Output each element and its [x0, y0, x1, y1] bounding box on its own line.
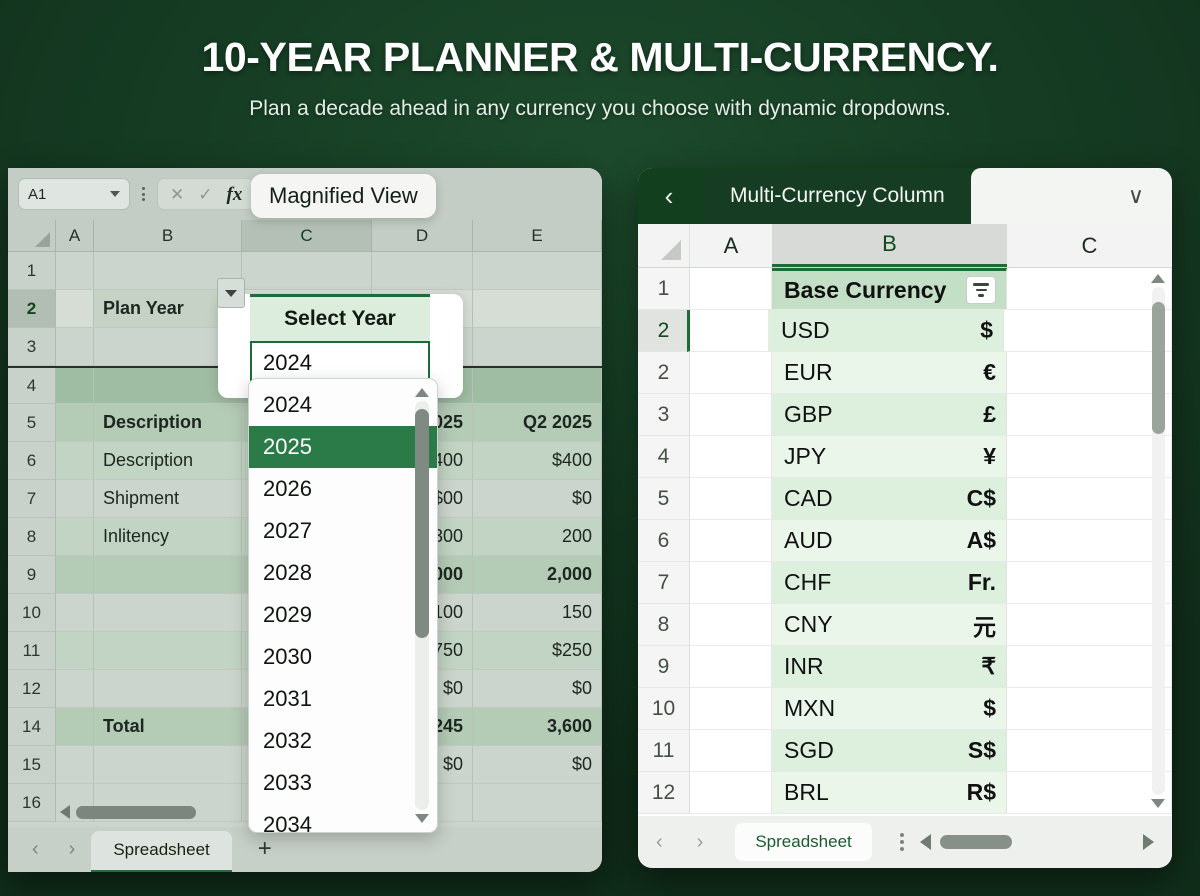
row-header[interactable]: 4	[8, 368, 56, 404]
dropdown-header-cell: Select Year	[250, 294, 430, 341]
dropdown-option[interactable]: 2027	[249, 510, 437, 552]
cancel-icon[interactable]: ✕	[170, 186, 184, 203]
cell-a[interactable]	[690, 730, 772, 772]
row-header[interactable]: 11	[8, 632, 56, 670]
cell-a[interactable]	[690, 646, 772, 688]
cell-a[interactable]	[56, 746, 94, 784]
currency-code: JPY	[784, 443, 826, 470]
cell-a[interactable]	[56, 252, 94, 290]
sheet-tab-spreadsheet[interactable]: Spreadsheet	[735, 823, 871, 861]
page-subtitle: Plan a decade ahead in any currency you …	[0, 97, 1200, 121]
right-panel-titlebar-right: ∨	[971, 168, 1172, 224]
cell-e[interactable]: $400	[473, 442, 602, 480]
cell-a[interactable]	[56, 632, 94, 670]
right-grid-rows: 1Base Currency2USD$2EUR€3GBP£4JPY¥5CADC$…	[638, 268, 1172, 814]
currency-symbol: ₹	[981, 653, 996, 680]
cell-b[interactable]: CADC$	[772, 478, 1007, 520]
cell-a[interactable]	[56, 404, 94, 442]
row-header[interactable]: 4	[638, 436, 690, 478]
row-header[interactable]: 15	[8, 746, 56, 784]
cell-e[interactable]	[473, 784, 602, 822]
cell-b[interactable]	[94, 556, 242, 594]
cell-a[interactable]	[56, 328, 94, 366]
dropdown-option[interactable]: 2028	[249, 552, 437, 594]
row-header[interactable]: 2	[638, 310, 690, 352]
back-icon[interactable]: ‹	[638, 181, 700, 212]
name-box[interactable]: A1	[18, 178, 130, 210]
currency-symbol: $	[980, 317, 993, 344]
row-header[interactable]: 5	[638, 478, 690, 520]
table-row[interactable]: 10MXN$	[638, 688, 1172, 730]
triangle-right-icon[interactable]	[1143, 834, 1154, 850]
cell-b[interactable]: MXN$	[772, 688, 1007, 730]
triangle-left-icon[interactable]	[920, 834, 931, 850]
prev-sheet-icon[interactable]: ‹	[32, 838, 39, 861]
cell-e[interactable]: $0	[473, 746, 602, 784]
cell-e[interactable]	[473, 368, 602, 404]
dropdown-scrollbar[interactable]	[411, 384, 433, 827]
right-horizontal-scrollbar[interactable]	[920, 834, 1154, 850]
currency-code: Base Currency	[784, 277, 946, 304]
row-header[interactable]: 9	[638, 646, 690, 688]
cell-a[interactable]	[690, 268, 772, 310]
cell-a[interactable]	[56, 556, 94, 594]
dropdown-option[interactable]: 2032	[249, 720, 437, 762]
cell-e[interactable]: Q2 2025	[473, 404, 602, 442]
cell-b[interactable]	[94, 746, 242, 784]
table-row[interactable]: 2EUR€	[638, 352, 1172, 394]
table-row[interactable]: 1	[8, 252, 602, 290]
cell-e[interactable]: 200	[473, 518, 602, 556]
cell-e[interactable]	[473, 328, 602, 366]
triangle-up-icon[interactable]	[1151, 274, 1165, 283]
cell-e[interactable]	[473, 252, 602, 290]
next-sheet-icon[interactable]: ›	[69, 838, 76, 861]
cell-a[interactable]	[56, 670, 94, 708]
right-panel-title: Multi-Currency Column	[704, 170, 971, 222]
dropdown-option[interactable]: 2030	[249, 636, 437, 678]
column-header-b[interactable]: B	[94, 220, 242, 251]
cell-a[interactable]	[56, 518, 94, 556]
triangle-up-icon[interactable]	[415, 388, 429, 397]
confirm-icon[interactable]: ✓	[198, 186, 212, 203]
cell-e[interactable]: $0	[473, 670, 602, 708]
row-header[interactable]: 6	[8, 442, 56, 480]
name-box-value: A1	[28, 186, 46, 203]
dropdown-option[interactable]: 2034	[249, 804, 437, 833]
cell-b[interactable]: CNY元	[772, 604, 1007, 646]
kebab-menu-icon[interactable]	[900, 833, 904, 851]
currency-code: CHF	[784, 569, 831, 596]
column-header-b[interactable]: B	[772, 224, 1007, 267]
triangle-down-icon[interactable]	[415, 814, 429, 823]
cell-b[interactable]	[94, 632, 242, 670]
cell-e[interactable]: 3,600	[473, 708, 602, 746]
row-header[interactable]: 11	[638, 730, 690, 772]
row-header[interactable]: 10	[8, 594, 56, 632]
dropdown-option[interactable]: 2024	[249, 384, 437, 426]
cell-a[interactable]	[690, 688, 772, 730]
currency-symbol: £	[983, 401, 996, 428]
currency-symbol: S$	[968, 737, 996, 764]
cell-a[interactable]	[690, 352, 772, 394]
cell-b[interactable]: Description	[94, 442, 242, 480]
dropdown-option[interactable]: 2033	[249, 762, 437, 804]
currency-code: EUR	[784, 359, 833, 386]
right-spreadsheet-panel: ‹ Multi-Currency Column ∨ A B C 1Base Cu…	[638, 168, 1172, 868]
currency-code: GBP	[784, 401, 833, 428]
right-scroll-thumb[interactable]	[1152, 302, 1165, 434]
filter-icon[interactable]	[966, 276, 996, 304]
cell-a[interactable]	[690, 478, 772, 520]
left-sheet-tab-bar: ‹ › Spreadsheet +	[8, 827, 602, 872]
dropdown-option[interactable]: 2026	[249, 468, 437, 510]
row-header[interactable]: 3	[638, 394, 690, 436]
currency-symbol: €	[983, 359, 996, 386]
cell-b[interactable]: Inlitency	[94, 518, 242, 556]
currency-code: AUD	[784, 527, 833, 554]
cell-e[interactable]: $250	[473, 632, 602, 670]
dropdown-scroll-track[interactable]	[415, 401, 429, 810]
page-title: 10-YEAR PLANNER & MULTI-CURRENCY.	[0, 34, 1200, 81]
left-grid: A B C D E 12Plan Year345Description2025Q…	[8, 220, 602, 827]
cell-a[interactable]	[56, 290, 94, 328]
table-row[interactable]: 9INR₹	[638, 646, 1172, 688]
cell-b[interactable]: Total	[94, 708, 242, 746]
cell-a[interactable]	[56, 442, 94, 480]
cell-a[interactable]	[56, 708, 94, 746]
cell-b[interactable]	[94, 670, 242, 708]
cell-b[interactable]: INR₹	[772, 646, 1007, 688]
row-header[interactable]: 7	[638, 562, 690, 604]
cell-b[interactable]: SGDS$	[772, 730, 1007, 772]
select-all-corner[interactable]	[638, 224, 690, 267]
currency-symbol: R$	[967, 779, 996, 806]
cell-e[interactable]	[473, 290, 602, 328]
table-row[interactable]: 11SGDS$	[638, 730, 1172, 772]
column-header-e[interactable]: E	[473, 220, 602, 251]
currency-code: USD	[781, 317, 830, 344]
cell-b[interactable]: JPY¥	[772, 436, 1007, 478]
row-header[interactable]: 9	[8, 556, 56, 594]
right-panel-titlebar: ‹ Multi-Currency Column ∨	[638, 168, 1172, 224]
formula-actions: ✕ ✓ fx	[157, 178, 255, 210]
right-sheet-tab-bar: ‹ › Spreadsheet	[638, 816, 1172, 868]
cell-e[interactable]: 2,000	[473, 556, 602, 594]
cell-a[interactable]	[56, 594, 94, 632]
add-sheet-button[interactable]: +	[232, 829, 298, 872]
dropdown-option[interactable]: 2029	[249, 594, 437, 636]
table-row[interactable]: 1Base Currency	[638, 268, 1172, 310]
cell-b[interactable]: USD$	[769, 310, 1004, 352]
column-header-a[interactable]: A	[56, 220, 94, 251]
cell-e[interactable]: $0	[473, 480, 602, 518]
table-row[interactable]: 3GBP£	[638, 394, 1172, 436]
currency-symbol: A$	[967, 527, 996, 554]
dropdown-option[interactable]: 2025	[249, 426, 437, 468]
cell-e[interactable]: 150	[473, 594, 602, 632]
currency-symbol: 元	[973, 608, 996, 642]
next-sheet-icon[interactable]: ›	[697, 831, 704, 854]
prev-sheet-icon[interactable]: ‹	[656, 831, 663, 854]
row-header[interactable]: 1	[8, 252, 56, 290]
currency-code: MXN	[784, 695, 835, 722]
cell-b[interactable]: Shipment	[94, 480, 242, 518]
row-header[interactable]: 12	[8, 670, 56, 708]
row-header[interactable]: 10	[638, 688, 690, 730]
right-vertical-scrollbar[interactable]	[1147, 270, 1169, 812]
column-header-c[interactable]: C	[242, 220, 372, 251]
function-icon[interactable]: fx	[227, 185, 243, 204]
currency-code: CNY	[784, 611, 833, 638]
table-row[interactable]: 7CHFFr.	[638, 562, 1172, 604]
cell-a[interactable]	[687, 310, 769, 352]
currency-code: SGD	[784, 737, 834, 764]
triangle-down-icon[interactable]	[1151, 799, 1165, 808]
table-row[interactable]: 8CNY元	[638, 604, 1172, 646]
cell-a[interactable]	[690, 772, 772, 814]
row-header[interactable]: 1	[638, 268, 690, 310]
cell-a[interactable]	[690, 604, 772, 646]
column-header-row: A B C D E	[8, 220, 602, 252]
cell-a[interactable]	[56, 368, 94, 404]
row-header[interactable]: 8	[8, 518, 56, 556]
dropdown-scroll-thumb[interactable]	[415, 409, 429, 638]
cell-c[interactable]	[242, 252, 372, 290]
cell-b[interactable]: BRLR$	[772, 772, 1007, 814]
kebab-menu-icon[interactable]	[136, 187, 151, 201]
cell-d[interactable]	[372, 252, 473, 290]
right-column-header-row: A B C	[638, 224, 1172, 268]
row-header[interactable]: 2	[638, 352, 690, 394]
row-header[interactable]: 6	[638, 520, 690, 562]
sheet-nav-arrows: ‹ ›	[22, 838, 91, 872]
cell-a[interactable]	[690, 562, 772, 604]
sheet-nav-arrows: ‹ ›	[656, 831, 729, 854]
cell-b[interactable]: CHFFr.	[772, 562, 1007, 604]
column-header-d[interactable]: D	[372, 220, 473, 251]
cell-b[interactable]: GBP£	[772, 394, 1007, 436]
select-all-corner[interactable]	[8, 220, 56, 251]
chevron-down-icon[interactable]	[110, 191, 120, 197]
left-scroll-thumb[interactable]	[76, 806, 196, 819]
cell-a[interactable]	[56, 480, 94, 518]
left-spreadsheet-panel: A1 ✕ ✓ fx Magnified View A B C D E 12Pla…	[8, 168, 602, 872]
row-header[interactable]: 14	[8, 708, 56, 746]
currency-code: BRL	[784, 779, 829, 806]
magnified-view-label: Magnified View	[251, 174, 436, 218]
cell-a[interactable]	[690, 520, 772, 562]
chevron-down-icon[interactable]: ∨	[1128, 183, 1144, 209]
year-dropdown-list[interactable]: 2024202520262027202820292030203120322033…	[248, 378, 438, 833]
cell-b[interactable]: Base Currency	[772, 268, 1007, 310]
row-header[interactable]: 12	[638, 772, 690, 814]
right-scroll-track[interactable]	[1152, 287, 1165, 795]
right-scroll-thumb[interactable]	[940, 835, 1012, 849]
cell-b[interactable]: Description	[94, 404, 242, 442]
currency-symbol: C$	[967, 485, 996, 512]
row-header[interactable]: 8	[638, 604, 690, 646]
table-row[interactable]: 4JPY¥	[638, 436, 1172, 478]
cell-a[interactable]	[690, 394, 772, 436]
hero-header: 10-YEAR PLANNER & MULTI-CURRENCY. Plan a…	[0, 0, 1200, 121]
currency-symbol: Fr.	[968, 569, 996, 596]
cell-b[interactable]: EUR€	[772, 352, 1007, 394]
row-header[interactable]: 5	[8, 404, 56, 442]
cell-b[interactable]	[94, 594, 242, 632]
sheet-tab-spreadsheet[interactable]: Spreadsheet	[91, 831, 231, 872]
triangle-left-icon[interactable]	[60, 805, 70, 819]
table-row[interactable]: 6AUDA$	[638, 520, 1172, 562]
currency-code: INR	[784, 653, 824, 680]
row-header[interactable]: 3	[8, 328, 56, 366]
column-header-a[interactable]: A	[690, 224, 772, 267]
cell-b[interactable]: AUDA$	[772, 520, 1007, 562]
dropdown-toggle-button[interactable]	[217, 278, 245, 308]
currency-symbol: ¥	[983, 443, 996, 470]
column-header-c[interactable]: C	[1007, 224, 1172, 267]
right-grid: A B C 1Base Currency2USD$2EUR€3GBP£4JPY¥…	[638, 224, 1172, 816]
dropdown-option[interactable]: 2031	[249, 678, 437, 720]
row-header[interactable]: 7	[8, 480, 56, 518]
table-row[interactable]: 12BRLR$	[638, 772, 1172, 814]
cell-a[interactable]	[690, 436, 772, 478]
row-header[interactable]: 16	[8, 784, 56, 822]
currency-code: CAD	[784, 485, 833, 512]
table-row[interactable]: 5CADC$	[638, 478, 1172, 520]
table-row[interactable]: 2USD$	[638, 310, 1172, 352]
row-header[interactable]: 2	[8, 290, 56, 328]
currency-symbol: $	[983, 695, 996, 722]
